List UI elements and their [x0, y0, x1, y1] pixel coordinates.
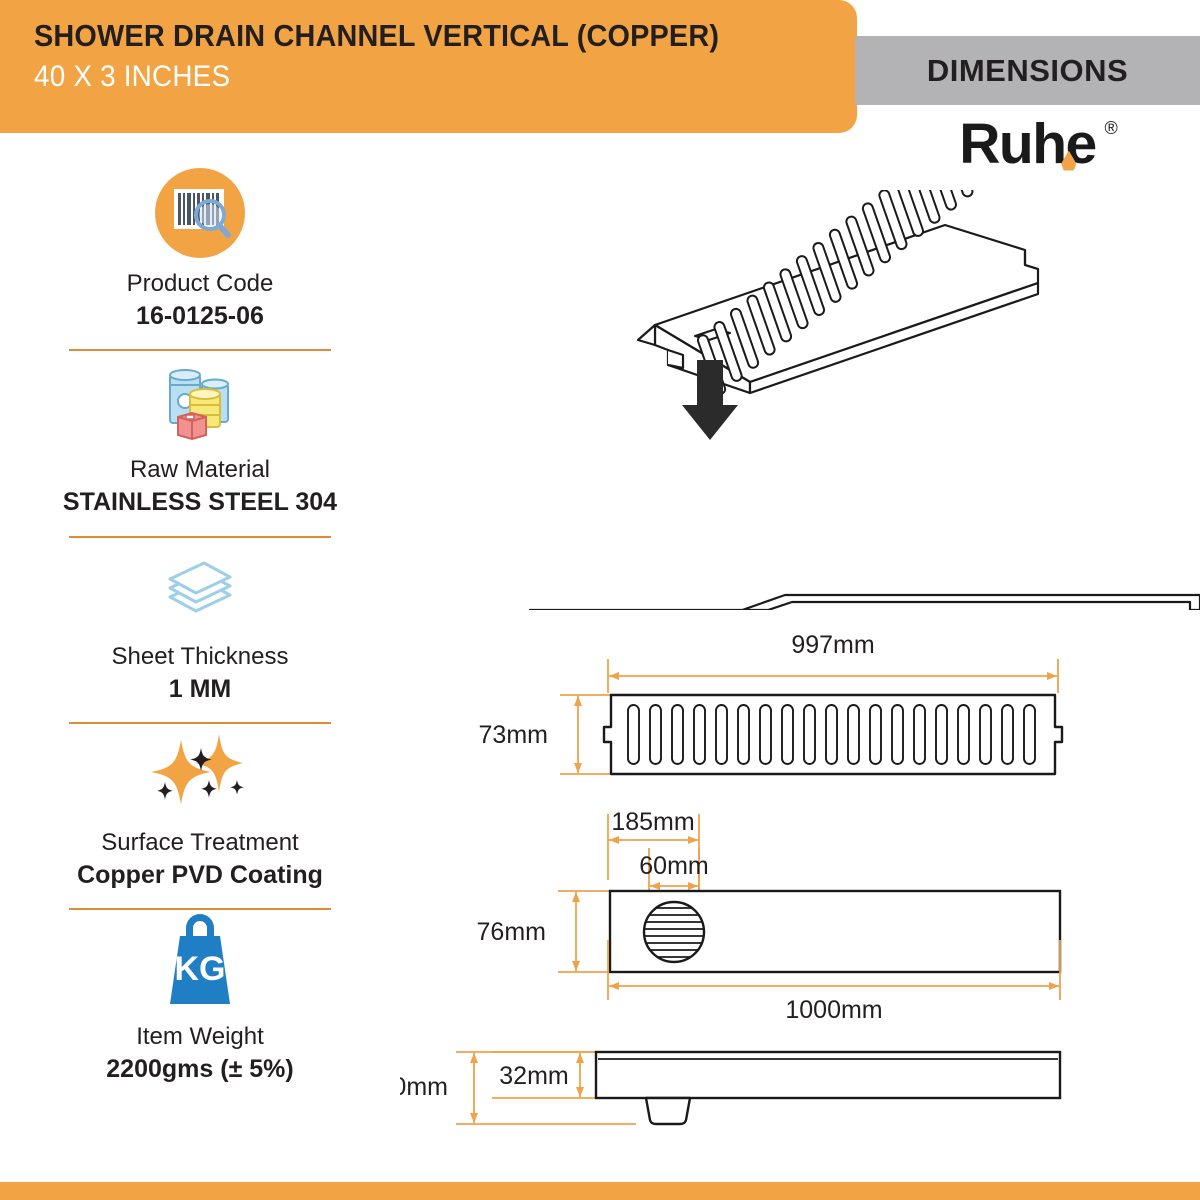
spec-value: 1 MM [0, 674, 400, 705]
spec-item-surface-treatment: Surface Treatment Copper PVD Coating [0, 724, 400, 910]
channel-body-top-view: 185mm 60mm 76mm [400, 790, 1200, 1025]
dimension-label-90: 90mm [400, 1073, 448, 1101]
sheet-stack-icon [0, 538, 400, 634]
spec-label: Raw Material [0, 455, 400, 485]
dimension-label-60: 60mm [639, 852, 708, 880]
channel-side-view: 90mm 32mm [400, 1028, 1200, 1158]
spec-label: Sheet Thickness [0, 642, 400, 672]
spec-item-raw-material: Raw Material STAINLESS STEEL 304 [0, 351, 400, 537]
spec-label: Item Weight [0, 1022, 400, 1052]
spec-value: Copper PVD Coating [0, 860, 400, 891]
specifications-sidebar: Product Code 16-0125-06 [0, 165, 400, 1085]
spec-item-product-code: Product Code 16-0125-06 [0, 165, 400, 351]
dimension-label-1000: 1000mm [785, 996, 882, 1024]
grate-top-view: 997mm 73mm [400, 635, 1200, 800]
spec-value: STAINLESS STEEL 304 [0, 487, 400, 518]
spec-label: Surface Treatment [0, 828, 400, 858]
spec-value: 16-0125-06 [0, 301, 400, 332]
outlet-spout [646, 1098, 690, 1124]
sparkle-icon [0, 724, 400, 820]
spec-item-sheet-thickness: Sheet Thickness 1 MM [0, 538, 400, 724]
exploded-isometric-view [400, 190, 1200, 610]
technical-drawings-panel: 997mm 73mm [400, 0, 1200, 1200]
spec-item-item-weight: KG Item Weight 2200gms (± 5%) [0, 910, 400, 1085]
spec-label: Product Code [0, 269, 400, 299]
spec-value: 2200gms (± 5%) [0, 1054, 400, 1085]
raw-material-drums-icon [0, 351, 400, 447]
barcode-scan-icon [0, 165, 400, 261]
dimension-label-185: 185mm [611, 808, 694, 836]
dimension-label-73: 73mm [479, 721, 548, 749]
weight-icon-text: KG [175, 950, 226, 988]
footer-accent-bar [0, 1182, 1200, 1200]
dimension-length-997 [608, 659, 1058, 693]
weight-kg-icon: KG [0, 910, 400, 1014]
dimension-label-32: 32mm [499, 1062, 568, 1090]
dimension-label-76: 76mm [477, 918, 546, 946]
dimension-width-76 [558, 891, 612, 972]
dimension-label-997: 997mm [791, 635, 874, 659]
